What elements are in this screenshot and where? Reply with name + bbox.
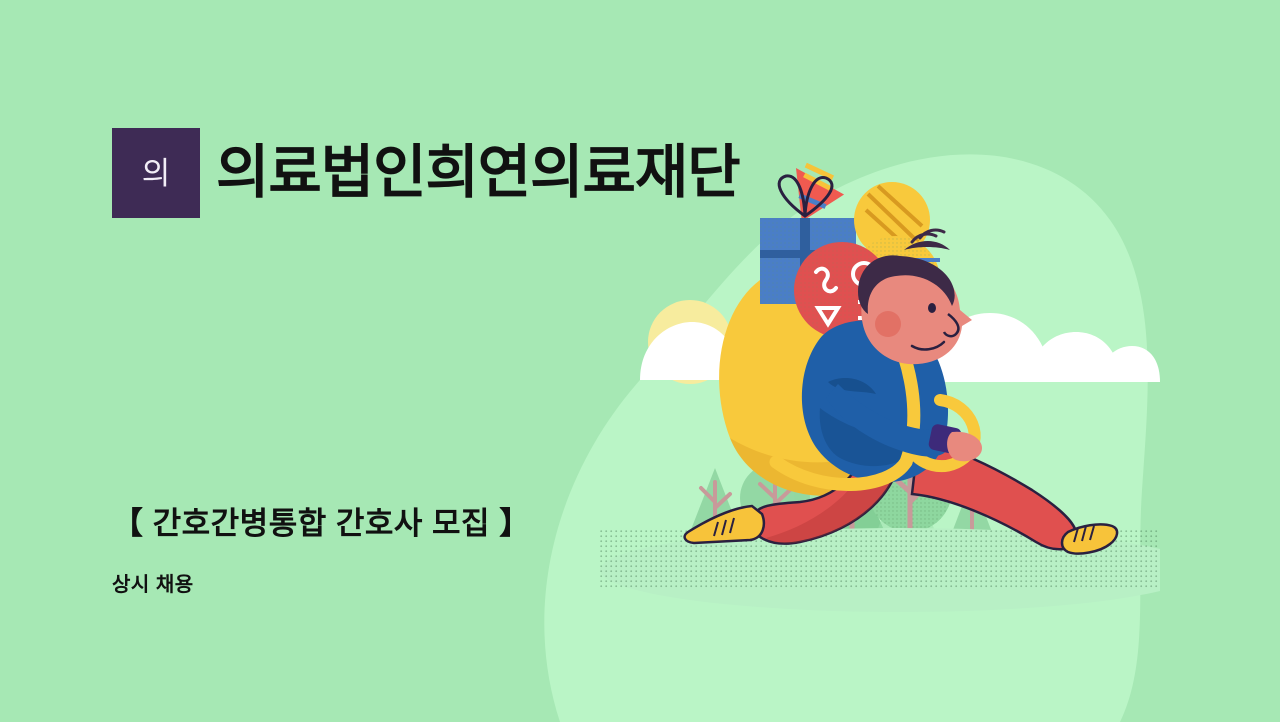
hill-cluster-right xyxy=(928,313,1160,382)
bag-strap xyxy=(776,320,914,485)
running-man-illustration xyxy=(600,150,1160,620)
strap-loop xyxy=(910,400,975,466)
tree xyxy=(794,454,870,552)
tree xyxy=(870,460,942,552)
ground xyxy=(600,528,1160,612)
tree xyxy=(685,468,745,552)
tree xyxy=(946,480,998,552)
job-info-block: 【 간호간병통합 간호사 모집 】 상시 채용 xyxy=(112,505,531,597)
torso xyxy=(802,320,948,482)
cheek-blush xyxy=(875,311,901,337)
job-poster: 의 의료법인희연의료재단 【 간호간병통합 간호사 모집 】 상시 채용 xyxy=(0,0,1280,722)
tree-row xyxy=(685,448,998,552)
leg-back xyxy=(752,442,900,544)
background-blob xyxy=(0,0,1280,722)
gift-box-blue xyxy=(760,176,856,304)
shoe-back xyxy=(685,506,764,543)
company-name: 의료법인희연의료재단 xyxy=(216,143,740,204)
gift-sack xyxy=(719,271,925,496)
head xyxy=(858,230,972,364)
ball-striped xyxy=(852,236,940,324)
tree xyxy=(868,448,952,552)
party-hat xyxy=(778,154,846,222)
shoe-front xyxy=(1062,524,1117,553)
sun-shape xyxy=(648,300,732,384)
company-logo-badge: 의 xyxy=(112,128,200,218)
tree xyxy=(812,458,892,552)
arm xyxy=(826,384,982,461)
company-header: 의 의료법인희연의료재단 xyxy=(112,128,740,218)
hill-cluster-left xyxy=(640,322,822,380)
leg-front xyxy=(912,442,1077,549)
ball-yellow xyxy=(854,182,930,258)
job-title: 【 간호간병통합 간호사 모집 】 xyxy=(112,505,531,542)
ball-red-patterned xyxy=(794,242,890,338)
tree xyxy=(740,463,810,552)
employment-type: 상시 채용 xyxy=(112,568,531,597)
